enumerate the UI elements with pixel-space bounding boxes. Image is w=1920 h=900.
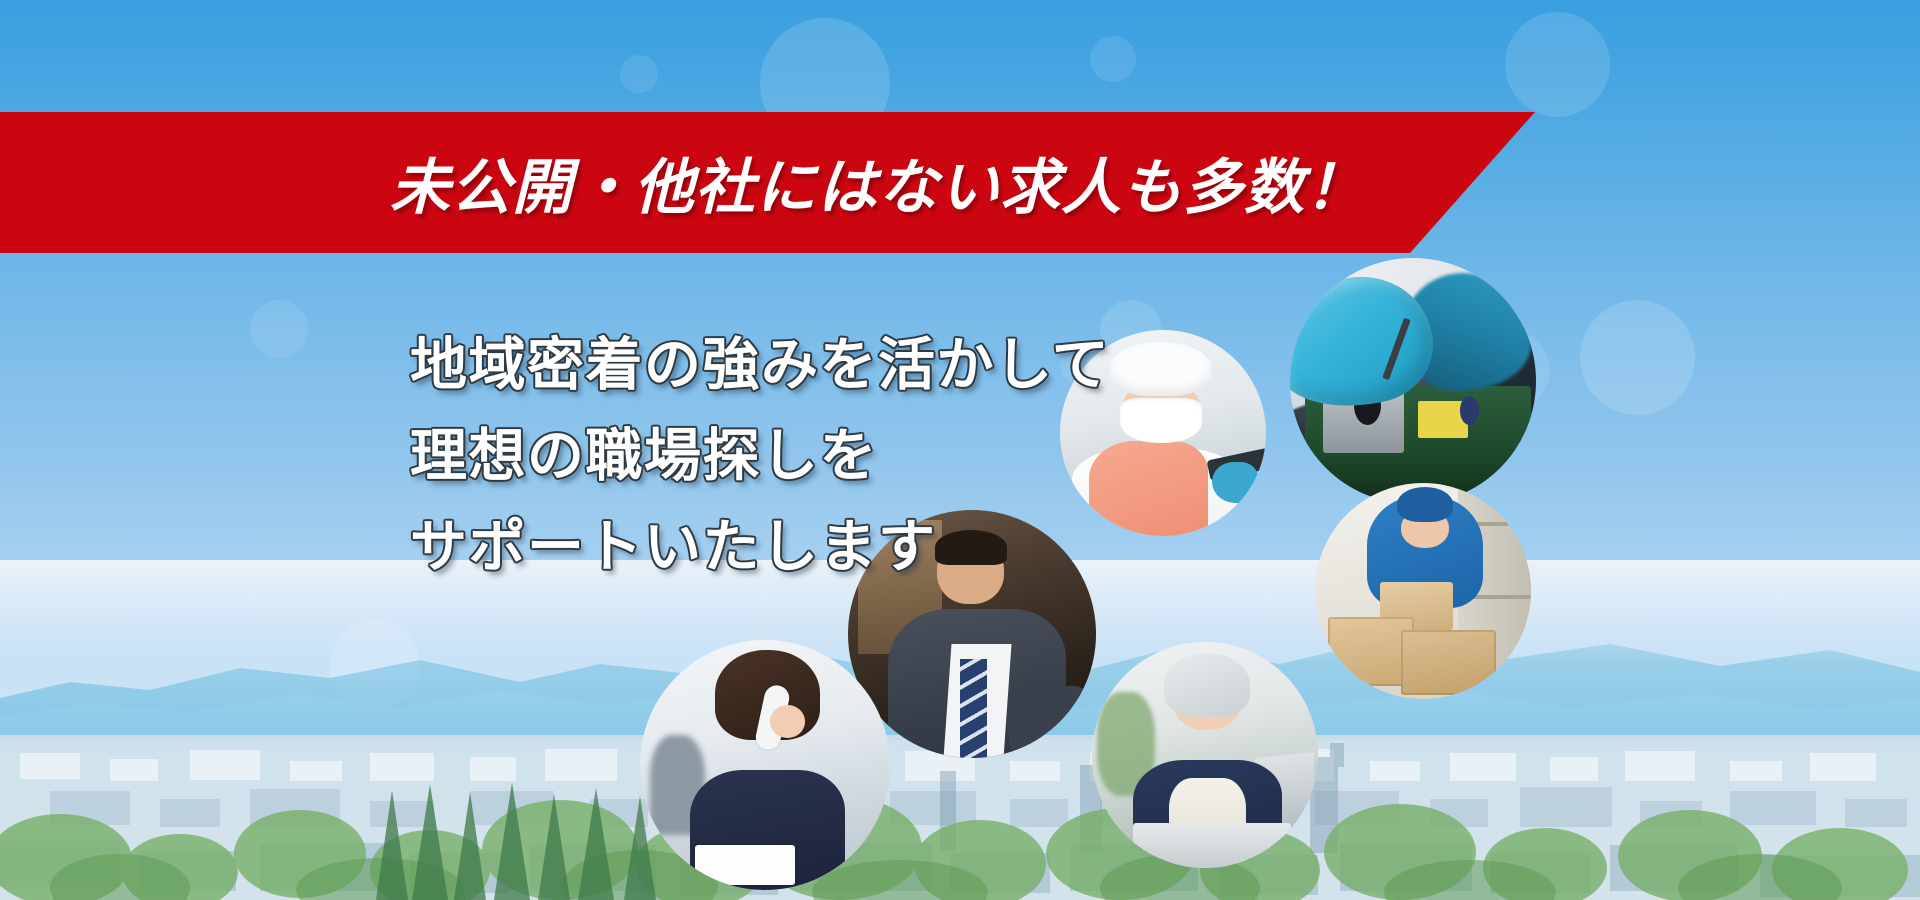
photo-image [640, 640, 890, 890]
photo-image [1315, 483, 1531, 699]
promo-ribbon-text: 未公開・他社にはない求人も多数！ [390, 139, 1366, 226]
headline-line-1: 地域密着の強みを活かして [410, 320, 1110, 411]
hero-banner: 電子基板を点検する作業者 食品工場の調理スタッフ 倉庫で段ボールを扱うスタッフ [0, 0, 1920, 900]
cardboard-box-shape [1401, 630, 1496, 695]
photo-senior-woman-laptop: ノートパソコンを使うシニア女性 [1092, 642, 1318, 868]
promo-ribbon: 未公開・他社にはない求人も多数！ [0, 112, 1535, 253]
photo-warehouse-packing: 倉庫で段ボールを扱うスタッフ [1315, 483, 1531, 699]
headline-line-3: サポートいたします [410, 502, 1110, 593]
gloved-hand-shape [1212, 462, 1257, 503]
face-mask-shape [1120, 398, 1202, 443]
work-cap-shape [1397, 487, 1453, 522]
hero-headline: 地域密着の強みを活かして 理想の職場探しを サポートいたします [410, 320, 1110, 593]
photo-image [1092, 642, 1318, 868]
photo-circuit-board-inspection: 電子基板を点検する作業者 [1290, 258, 1536, 504]
hand-shape [770, 705, 805, 738]
hair-shape [1164, 653, 1250, 716]
headline-line-2: 理想の職場探しを [410, 411, 1110, 502]
necktie-shape [960, 659, 987, 758]
hair-cap-shape [1109, 342, 1212, 396]
tablet-device-shape [695, 845, 795, 885]
photo-receptionist-phone: 電話対応する受付女性 [640, 640, 890, 890]
laptop-shape [1133, 823, 1291, 868]
photo-image [1290, 258, 1536, 504]
